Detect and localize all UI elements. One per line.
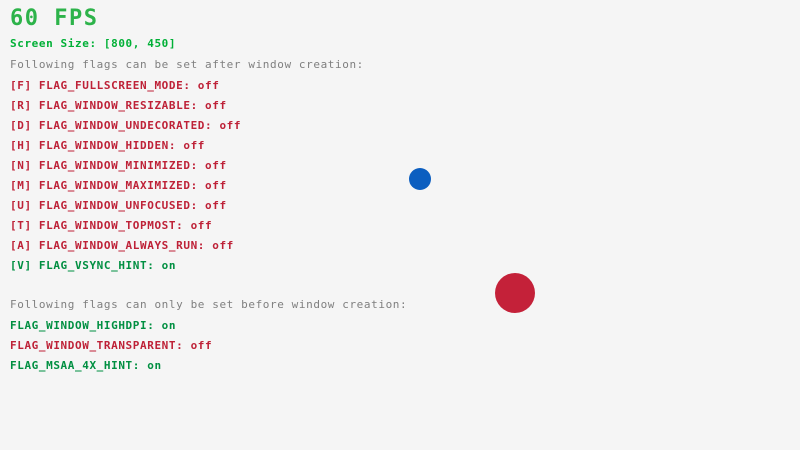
- flag-row-window-maximized[interactable]: [M] FLAG_WINDOW_MAXIMIZED: off: [10, 180, 227, 191]
- flag-row-window-transparent: FLAG_WINDOW_TRANSPARENT: off: [10, 340, 212, 351]
- flag-row-window-hidden[interactable]: [H] FLAG_WINDOW_HIDDEN: off: [10, 140, 205, 151]
- section-header-after-creation: Following flags can be set after window …: [10, 59, 364, 70]
- flag-row-window-resizable[interactable]: [R] FLAG_WINDOW_RESIZABLE: off: [10, 100, 227, 111]
- flag-row-window-topmost[interactable]: [T] FLAG_WINDOW_TOPMOST: off: [10, 220, 212, 231]
- flag-row-window-always-run[interactable]: [A] FLAG_WINDOW_ALWAYS_RUN: off: [10, 240, 234, 251]
- flag-row-window-highdpi: FLAG_WINDOW_HIGHDPI: on: [10, 320, 176, 331]
- flag-row-window-minimized[interactable]: [N] FLAG_WINDOW_MINIMIZED: off: [10, 160, 227, 171]
- flag-row-fullscreen-mode[interactable]: [F] FLAG_FULLSCREEN_MODE: off: [10, 80, 219, 91]
- fps-counter: 60 FPS: [10, 8, 98, 30]
- flag-row-window-unfocused[interactable]: [U] FLAG_WINDOW_UNFOCUSED: off: [10, 200, 227, 211]
- red-ball: [495, 273, 535, 313]
- raylib-window-canvas[interactable]: 60 FPS Screen Size: [800, 450] Following…: [0, 0, 800, 450]
- blue-ball: [409, 168, 431, 190]
- section-header-before-creation: Following flags can only be set before w…: [10, 299, 407, 310]
- flag-row-msaa-4x-hint: FLAG_MSAA_4X_HINT: on: [10, 360, 162, 371]
- flag-row-vsync-hint[interactable]: [V] FLAG_VSYNC_HINT: on: [10, 260, 176, 271]
- screen-size-label: Screen Size: [800, 450]: [10, 38, 176, 49]
- flag-row-window-undecorated[interactable]: [D] FLAG_WINDOW_UNDECORATED: off: [10, 120, 241, 131]
